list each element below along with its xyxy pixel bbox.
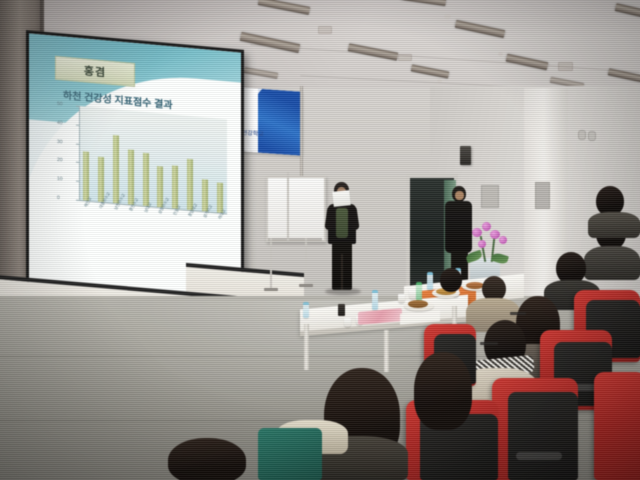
wall-access-panel [535,182,550,209]
whiteboard-leg [270,238,272,290]
beverage-can [338,304,345,316]
attendee-jacket [445,201,472,253]
wall-speaker-icon [460,146,471,165]
wall-access-panel [481,185,499,208]
whiteboard-caster [299,284,313,287]
whiteboard-tray [268,238,322,241]
paper-cup [398,294,405,303]
ceiling-sensor-icon [498,52,503,56]
water-bottle [303,302,309,318]
audience-head [440,268,462,292]
presenter-shirt [336,208,348,238]
whiteboard-leg [287,172,289,242]
orchid-flower [478,240,486,248]
audience-shoulders [584,246,640,280]
presenter [325,182,359,294]
paper-cup [409,290,416,299]
audience-head [168,438,246,480]
seat-highlight [516,452,562,460]
audience-shoulders [588,212,640,238]
eyeglasses-icon [510,312,526,315]
eyeglasses-icon [480,342,498,345]
presenter-leg-split [341,254,343,290]
whiteboard-caster [264,288,278,291]
orchid-flower [482,222,491,231]
water-bottle [372,290,378,310]
ceiling-vent [318,26,332,34]
attendee-face [455,191,464,200]
whiteboard-leg [305,238,307,286]
wall-knob-icon [588,131,596,141]
table-leg [384,330,389,372]
presenter-notes [332,190,350,207]
orchid-flower [472,228,482,237]
paper-cup [344,318,351,327]
audience-head [414,352,472,430]
wall-knob-icon [578,130,586,140]
auditorium-seat-green[interactable] [258,428,322,480]
table-leg [304,324,309,370]
orchid-flower [499,236,507,244]
beverage-bottle [416,282,422,302]
auditorium-seat-back [508,392,578,480]
snack-food [408,300,428,308]
ceiling-sensor-icon [444,14,451,19]
presenter-shadow [325,288,361,295]
water-bottle [427,272,433,290]
whiteboard[interactable] [266,176,326,242]
auditorium-presentation-photo: 고 대 대구 · 1. 20(금) 1 표회 표회 국대학교 천강학교 홍겸 하… [0,0,640,480]
auditorium-seat[interactable] [594,372,640,480]
